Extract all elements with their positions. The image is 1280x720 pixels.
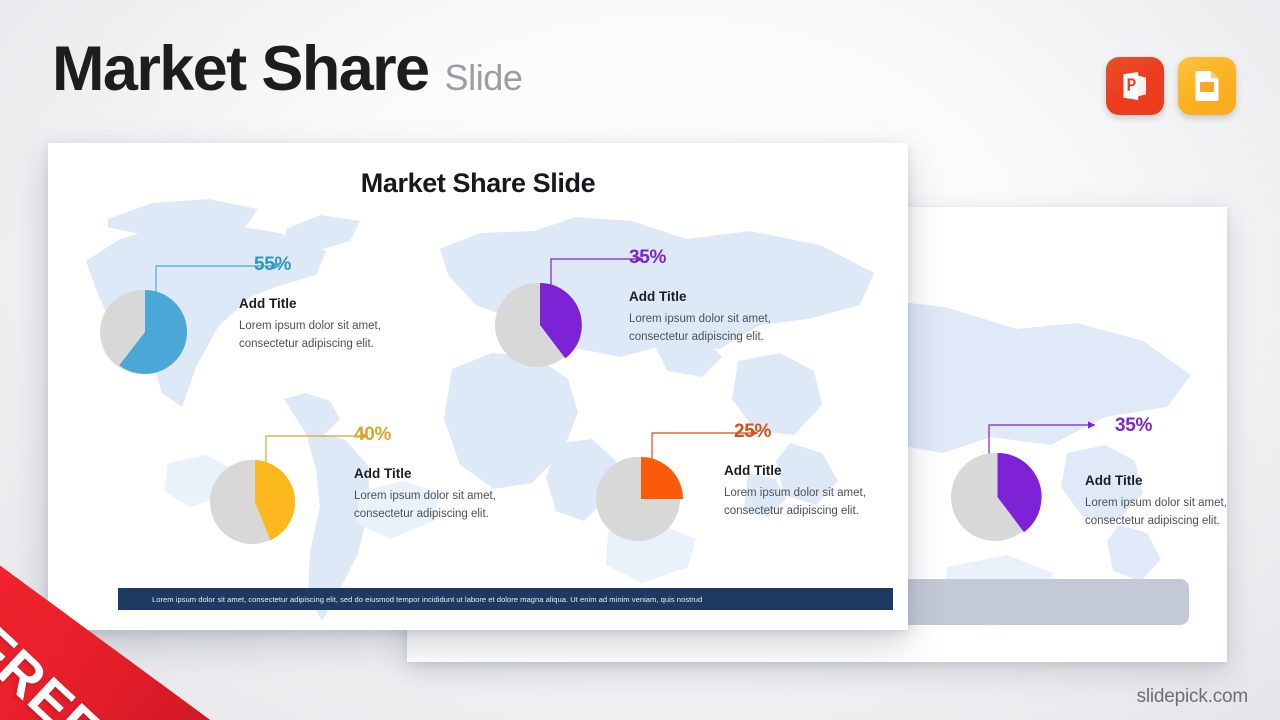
page-title-sub: Slide [445, 60, 523, 96]
front-footer-text: Lorem ipsum dolor sit amet, consectetur … [118, 595, 702, 604]
front-footer-bar: Lorem ipsum dolor sit amet, consectetur … [118, 588, 893, 610]
pie-chart-40 [206, 456, 298, 553]
google-slides-icon[interactable] [1178, 57, 1236, 115]
front-stat-40: 40% Add Title Lorem ipsum dolor sit amet… [218, 418, 558, 558]
stat-40-percent: 40% [354, 424, 391, 446]
stat-25-desc: Lorem ipsum dolor sit amet, consectetur … [724, 485, 866, 521]
pie-chart-35 [491, 279, 583, 376]
site-watermark: slidepick.com [1137, 686, 1248, 708]
page-title: Market Share Slide [52, 38, 523, 101]
pie-chart-25 [592, 453, 684, 550]
format-icon-group [1106, 57, 1236, 115]
stat-40-desc: Lorem ipsum dolor sit amet, consectetur … [354, 488, 496, 524]
back-pie-35 [947, 449, 1043, 550]
stat-40-title: Add Title [354, 466, 412, 481]
stat-35-percent: 35% [629, 247, 666, 269]
slide-front[interactable]: Market Share Slide 55% Add Title Lorem i… [48, 143, 908, 630]
stat-25-percent: 25% [734, 421, 771, 443]
front-stat-25: 25% Add Title Lorem ipsum dolor sit amet… [604, 415, 908, 555]
stat-25-title: Add Title [724, 463, 782, 478]
pie-chart-40-svg [206, 456, 298, 548]
front-stat-55: 55% Add Title Lorem ipsum dolor sit amet… [108, 248, 448, 388]
back-stat-35-title: Add Title [1085, 473, 1143, 488]
front-slide-title: Market Share Slide [48, 168, 908, 199]
pie-chart-55-svg [96, 286, 188, 378]
back-stat-35-percent: 35% [1115, 415, 1152, 437]
page-title-main: Market Share [52, 38, 429, 101]
pie-chart-55 [96, 286, 188, 383]
stat-35-desc: Lorem ipsum dolor sit amet, consectetur … [629, 311, 771, 347]
stat-55-percent: 55% [254, 254, 291, 276]
stat-35-title: Add Title [629, 289, 687, 304]
back-pie-35-svg [947, 449, 1043, 545]
back-stat-35: 35% Add Title Lorem ipsum dolor sit amet… [967, 407, 1227, 547]
front-stat-35: 35% Add Title Lorem ipsum dolor sit amet… [503, 241, 843, 381]
stat-55-desc: Lorem ipsum dolor sit amet, consectetur … [239, 318, 381, 354]
powerpoint-glyph [1118, 69, 1152, 103]
pie-chart-35-svg [491, 279, 583, 371]
poster-canvas: Market Share Slide [0, 0, 1280, 720]
powerpoint-icon[interactable] [1106, 57, 1164, 115]
back-stat-35-desc: Lorem ipsum dolor sit amet, consectetur … [1085, 495, 1227, 531]
stat-55-title: Add Title [239, 296, 297, 311]
google-slides-glyph [1191, 69, 1223, 103]
pie-chart-25-svg [592, 453, 684, 545]
